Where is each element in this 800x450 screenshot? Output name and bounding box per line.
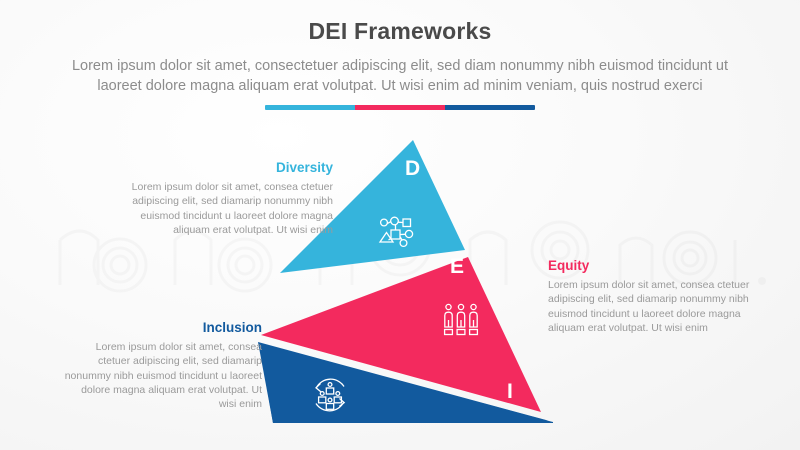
description-title-equity: Equity bbox=[548, 258, 756, 274]
description-title-inclusion: Inclusion bbox=[62, 320, 262, 336]
page-title: DEI Frameworks bbox=[0, 18, 800, 45]
pyramid-letter-inclusion: I bbox=[507, 381, 513, 402]
inclusion-circle-people-icon bbox=[309, 374, 351, 416]
description-block-diversity: Diversity Lorem ipsum dolor sit amet, co… bbox=[128, 160, 333, 237]
infographic-canvas: DEI Frameworks Lorem ipsum dolor sit ame… bbox=[0, 0, 800, 450]
pyramid-letter-equity: E bbox=[450, 256, 465, 277]
equity-people-boxes-icon bbox=[443, 303, 479, 337]
diversity-shapes-icon bbox=[378, 216, 414, 250]
description-body-inclusion: Lorem ipsum dolor sit amet, consea ctetu… bbox=[62, 340, 262, 411]
description-title-diversity: Diversity bbox=[128, 160, 333, 176]
page-subtitle: Lorem ipsum dolor sit amet, consectetuer… bbox=[50, 56, 750, 96]
description-body-equity: Lorem ipsum dolor sit amet, consea ctetu… bbox=[548, 278, 756, 335]
accent-divider-bar bbox=[265, 105, 535, 110]
description-block-inclusion: Inclusion Lorem ipsum dolor sit amet, co… bbox=[62, 320, 262, 411]
description-body-diversity: Lorem ipsum dolor sit amet, consea ctetu… bbox=[128, 180, 333, 237]
accent-segment-inclusion bbox=[445, 105, 535, 110]
accent-segment-equity bbox=[355, 105, 445, 110]
pyramid-letter-diversity: D bbox=[405, 158, 421, 179]
accent-segment-diversity bbox=[265, 105, 355, 110]
description-block-equity: Equity Lorem ipsum dolor sit amet, conse… bbox=[548, 258, 756, 335]
